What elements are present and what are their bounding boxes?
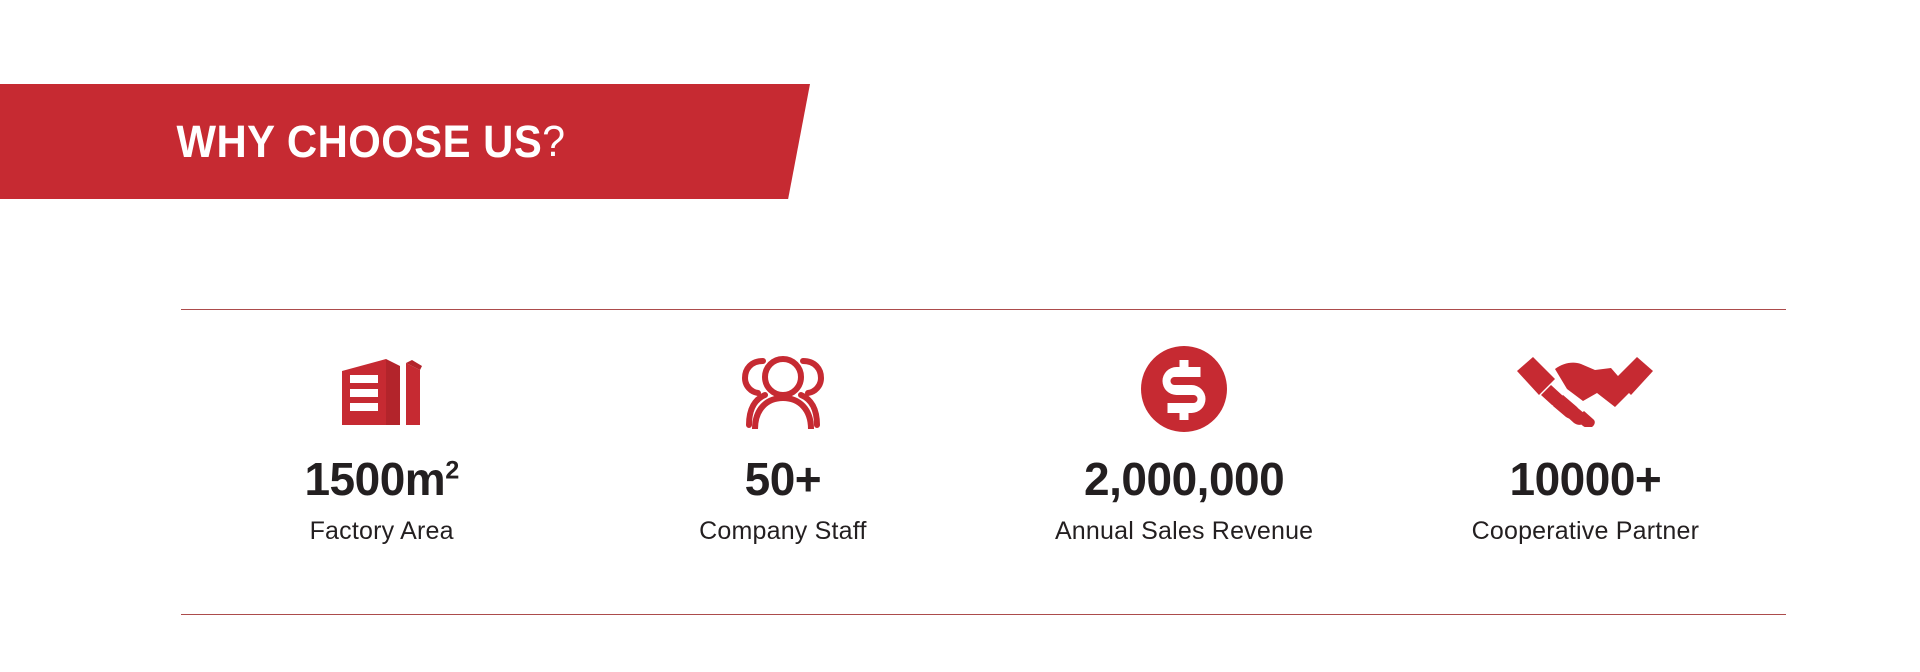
stat-label: Cooperative Partner	[1472, 519, 1700, 544]
stat-item-factory-area: 1500m2 Factory Area	[181, 310, 582, 544]
page-title: WHY CHOOSE US?	[26, 84, 716, 199]
stats-divider-bottom	[181, 614, 1786, 615]
handshake-icon	[1511, 346, 1659, 432]
stat-item-annual-sales-revenue: 2,000,000 Annual Sales Revenue	[984, 310, 1385, 544]
stat-value: 50+	[745, 456, 822, 502]
stat-item-cooperative-partner: 10000+ Cooperative Partner	[1385, 310, 1786, 544]
dollar-circle-icon	[1141, 346, 1227, 432]
stat-label: Company Staff	[699, 519, 867, 544]
stats-section: 1500m2 Factory Area 50+ Company St	[181, 309, 1786, 615]
stat-value: 1500m2	[304, 456, 458, 502]
stat-value-superscript: 2	[445, 457, 459, 485]
people-group-icon	[729, 346, 837, 432]
stats-row: 1500m2 Factory Area 50+ Company St	[181, 310, 1786, 614]
page-title-text: WHY CHOOSE US	[177, 116, 543, 168]
stat-label: Factory Area	[310, 519, 454, 544]
stat-label: Annual Sales Revenue	[1055, 519, 1313, 544]
why-choose-us-banner: WHY CHOOSE US?	[0, 84, 810, 199]
stat-value: 10000+	[1509, 456, 1661, 502]
stat-item-company-staff: 50+ Company Staff	[582, 310, 983, 544]
page-title-question-mark: ?	[542, 117, 565, 167]
factory-building-icon	[338, 346, 426, 432]
stat-value: 2,000,000	[1084, 456, 1284, 502]
